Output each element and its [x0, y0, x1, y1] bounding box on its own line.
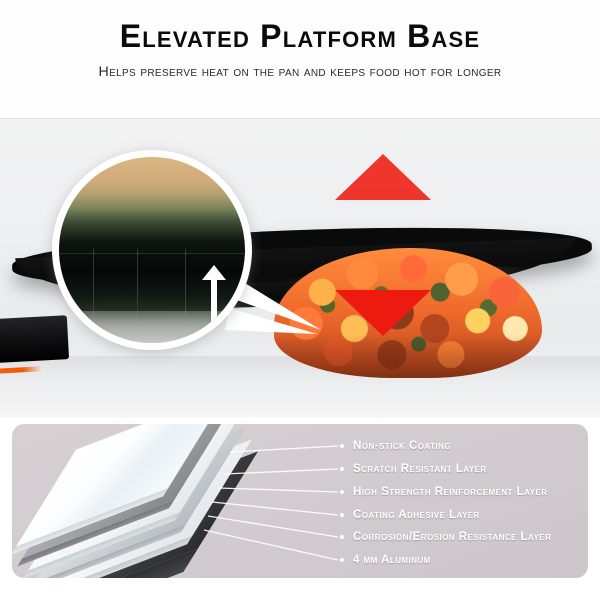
layer-label-scratch-resistant-layer: Scratch Resistant Layer: [353, 462, 487, 475]
magnified-base-detail: [59, 157, 245, 343]
header-band: Elevated Platform Base Helps preserve he…: [0, 0, 600, 118]
red-arrow-head-up-icon: [335, 154, 431, 200]
magnifier-callout: [52, 150, 252, 350]
red-arrow-head-down-icon: [335, 290, 431, 336]
arrow-shaft: [211, 277, 217, 343]
base-height-arrow-icon: [202, 265, 226, 343]
layer-label-4-mm-aluminum: 4 mm Aluminum: [353, 553, 431, 566]
product-feature-infographic: Elevated Platform Base Helps preserve he…: [0, 0, 600, 600]
layer-label-list: Non-stick Coating Scratch Resistant Laye…: [12, 424, 588, 578]
layer-label-non-stick-coating: Non-stick Coating: [353, 439, 451, 452]
arrow-head-down-icon: [202, 342, 226, 343]
base-edge-line: [59, 253, 245, 254]
page-title: Elevated Platform Base: [0, 18, 600, 55]
page-subtitle: Helps preserve heat on the pan and keeps…: [0, 64, 600, 80]
layer-label-corrosion-erosion-resistance-layer: Corrosion/Erosion Resistance Layer: [353, 530, 551, 543]
product-photo-stage: [0, 118, 600, 418]
layer-label-coating-adhesive-layer: Coating Adhesive Layer: [353, 508, 480, 521]
layer-label-high-strength-reinforcement-layer: High Strength Reinforcement Layer: [353, 485, 547, 498]
coating-layers-panel: Non-stick Coating Scratch Resistant Laye…: [12, 424, 588, 578]
